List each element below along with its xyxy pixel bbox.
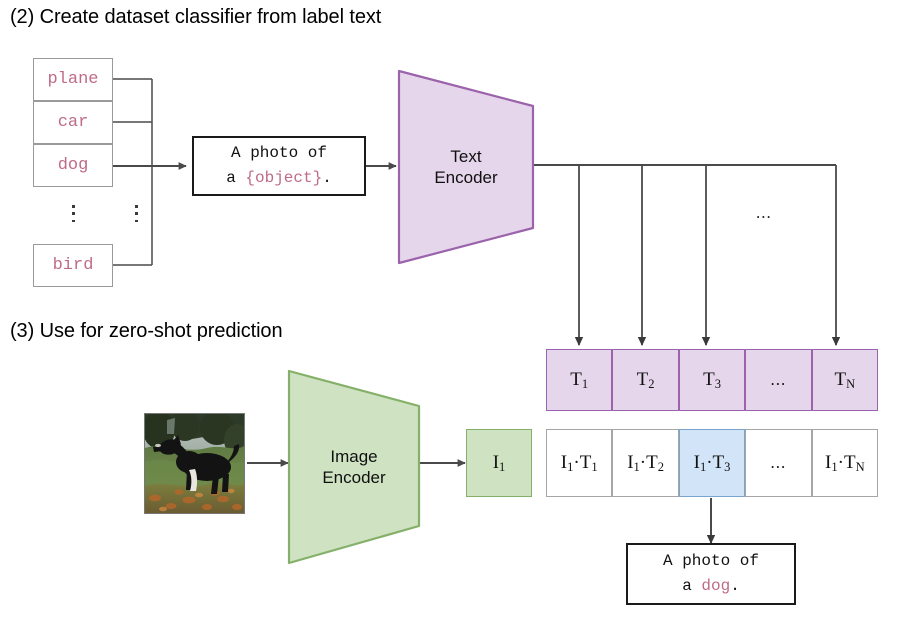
- label-box-car[interactable]: car: [33, 101, 113, 144]
- label-text: plane: [47, 70, 98, 89]
- similarity-cell[interactable]: I1·TN: [812, 429, 878, 497]
- image-embedding-label: I1: [493, 452, 506, 475]
- text-embedding-cell-ellipsis: ...: [745, 349, 811, 411]
- image-encoder[interactable]: Image Encoder: [286, 368, 422, 566]
- result-predicted-class: dog: [701, 577, 730, 595]
- result-prefix: a: [682, 577, 701, 595]
- result-line-1: A photo of: [663, 549, 759, 574]
- label-box-plane[interactable]: plane: [33, 58, 113, 101]
- label-text: dog: [58, 156, 89, 175]
- label-rail-ellipsis-icon: [135, 205, 138, 222]
- prediction-result-box: A photo of a dog.: [626, 543, 796, 605]
- label-text: car: [58, 113, 89, 132]
- similarity-cell-ellipsis: ...: [745, 429, 811, 497]
- section-title-step2: (2) Create dataset classifier from label…: [10, 6, 381, 29]
- similarity-cell[interactable]: I1·T1: [546, 429, 612, 497]
- prompt-slot-token: {object}: [245, 169, 322, 187]
- clip-zero-shot-diagram: (2) Create dataset classifier from label…: [0, 0, 906, 624]
- text-embeddings-row: T1 T2 T3 ... TN: [546, 349, 878, 411]
- label-collector-lines: [113, 79, 152, 265]
- text-encoder[interactable]: Text Encoder: [396, 68, 536, 266]
- label-list-ellipsis-icon: [72, 205, 75, 222]
- prompt-line-1: A photo of: [231, 141, 327, 166]
- text-embedding-cell: T3: [679, 349, 745, 411]
- label-text: bird: [53, 256, 94, 275]
- image-encoder-shape: [286, 368, 422, 566]
- result-line-2: a dog.: [682, 574, 740, 599]
- cell-label: I1·T2: [627, 452, 664, 475]
- cell-label: ...: [771, 453, 787, 473]
- similarity-cell-selected[interactable]: I1·T3: [679, 429, 745, 497]
- section-title-step3: (3) Use for zero-shot prediction: [10, 320, 282, 343]
- text-embedding-cell: T2: [612, 349, 678, 411]
- label-box-bird[interactable]: bird: [33, 244, 113, 287]
- text-encoder-drop-arrows: [579, 165, 836, 345]
- cell-label: I1·T1: [561, 452, 598, 475]
- text-encoder-shape: [396, 68, 536, 266]
- prompt-suffix: .: [322, 169, 332, 187]
- cell-label: I1·TN: [825, 452, 865, 475]
- cell-label: ...: [771, 370, 787, 390]
- label-box-dog[interactable]: dog: [33, 144, 113, 187]
- result-suffix: .: [730, 577, 740, 595]
- cell-label: I1·T3: [694, 452, 731, 475]
- text-embedding-cell: TN: [812, 349, 878, 411]
- prompt-template-box[interactable]: A photo of a {object}.: [192, 136, 366, 196]
- prompt-prefix: a: [226, 169, 245, 187]
- prompt-line-2: a {object}.: [226, 166, 332, 191]
- cell-label: T2: [637, 369, 655, 392]
- bus-ellipsis-label: ...: [756, 203, 772, 223]
- cell-label: T3: [703, 369, 721, 392]
- text-embedding-cell: T1: [546, 349, 612, 411]
- image-embedding-box: I1: [466, 429, 532, 497]
- cell-label: T1: [570, 369, 588, 392]
- similarity-scores-row: I1·T1 I1·T2 I1·T3 ... I1·TN: [546, 429, 878, 497]
- input-image-thumbnail[interactable]: [144, 413, 245, 514]
- similarity-cell[interactable]: I1·T2: [612, 429, 678, 497]
- dog-photo: [145, 414, 244, 513]
- cell-label: TN: [834, 369, 855, 392]
